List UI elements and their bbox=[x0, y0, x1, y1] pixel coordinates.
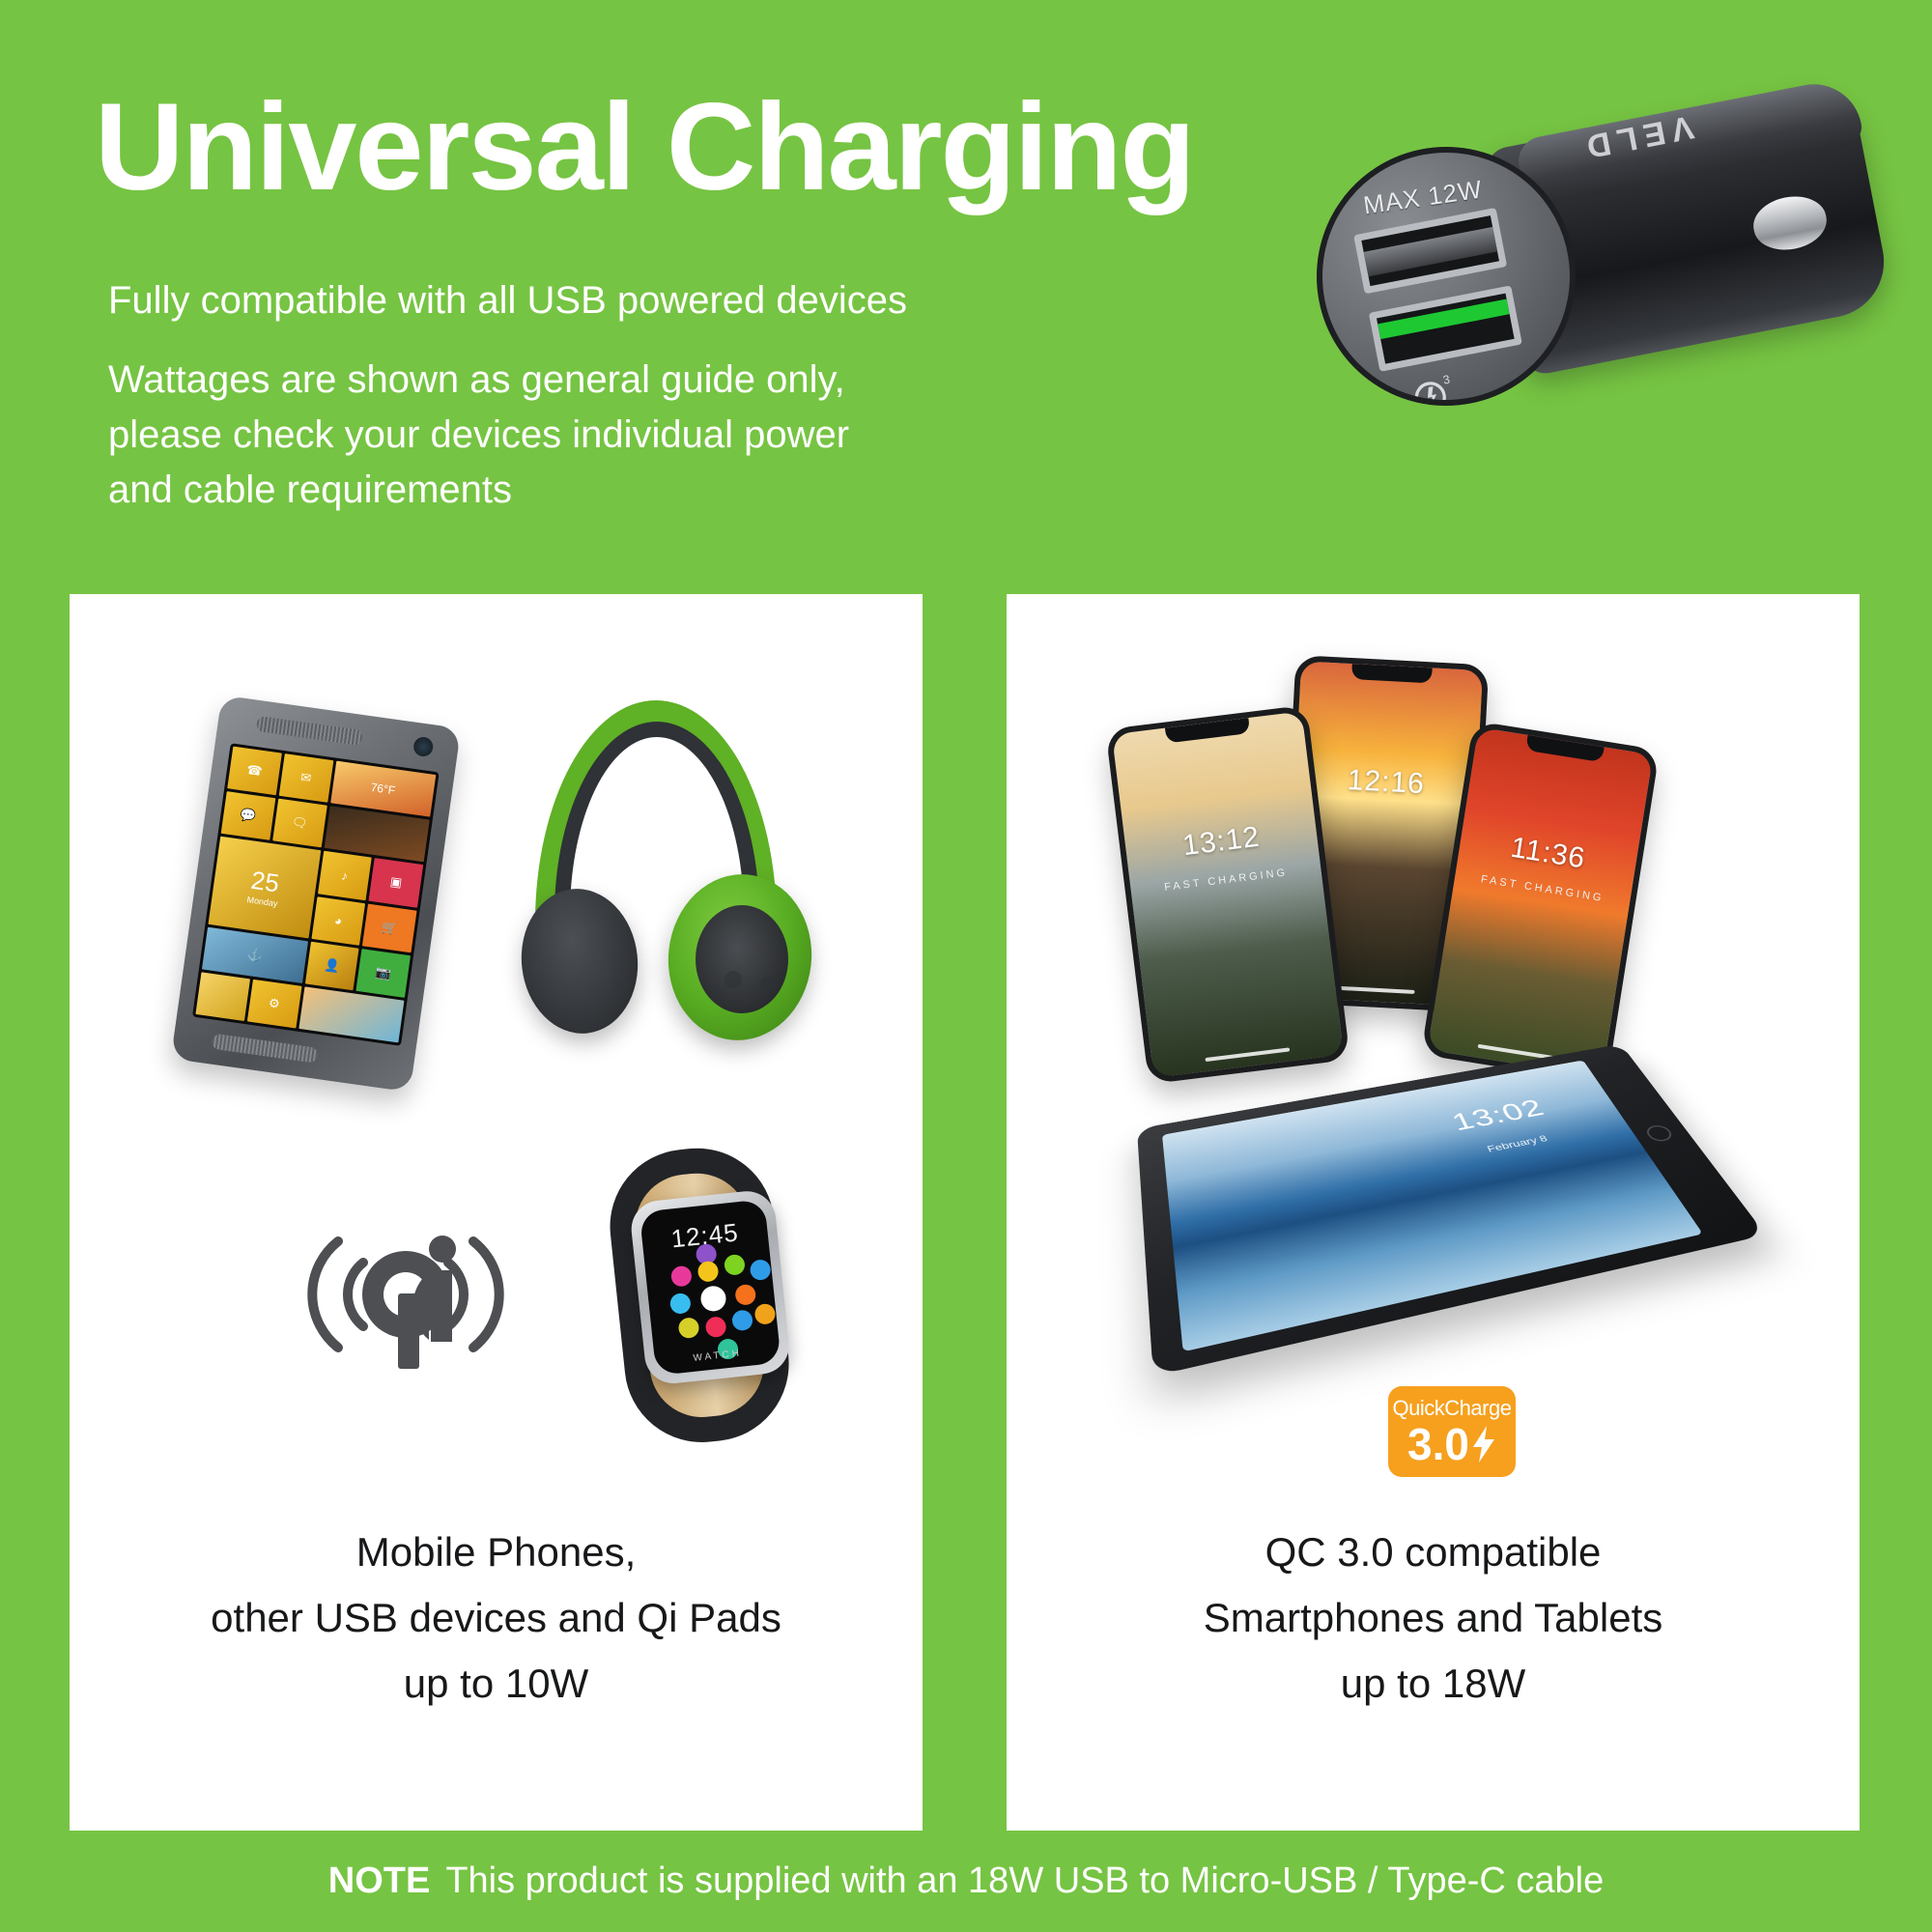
tile-settings: ⚙ bbox=[247, 980, 301, 1029]
watch-clock-icon bbox=[699, 1285, 727, 1313]
headphones-earpad bbox=[696, 905, 788, 1013]
tile-wifi: ◕ bbox=[311, 896, 365, 946]
header-subtitle-wattage-line-1: Wattages are shown as general guide only… bbox=[108, 353, 978, 408]
tile-notes bbox=[195, 972, 249, 1021]
header-subtitle-wattage: Wattages are shown as general guide only… bbox=[108, 353, 978, 517]
watch-case: 12:45 bbox=[629, 1188, 792, 1386]
tile-calendar: 25 Monday bbox=[209, 837, 321, 938]
watch-app-icon bbox=[724, 1254, 746, 1276]
watch-app-icon bbox=[669, 1293, 692, 1315]
usb-port-quickcharge-contacts bbox=[1378, 298, 1510, 339]
watch-app-icon bbox=[705, 1316, 727, 1338]
watch-app-icon bbox=[677, 1317, 699, 1339]
note-text: This product is supplied with an 18W USB… bbox=[445, 1861, 1604, 1902]
quickcharge-3-badge: QuickCharge 3.0 bbox=[1388, 1386, 1516, 1477]
svg-text:3: 3 bbox=[1442, 373, 1452, 387]
header-subtitle-wattage-line-3: and cable requirements bbox=[108, 463, 978, 518]
tile-messaging: 💬 bbox=[221, 791, 275, 840]
tablet-lockscreen-time: 13:02 bbox=[1448, 1095, 1550, 1137]
usb-port-standard bbox=[1353, 208, 1507, 294]
car-charger-product-image: VELD MAX 12W 3 bbox=[1290, 58, 1908, 493]
tile-chat: 🗨 bbox=[272, 799, 327, 848]
card-left-caption-line-3: up to 10W bbox=[70, 1651, 923, 1717]
tablet-home-button bbox=[1643, 1123, 1676, 1143]
tablet-lockscreen-date: February 8 bbox=[1485, 1133, 1548, 1154]
watch-app-icon bbox=[696, 1261, 719, 1283]
watch-app-icon bbox=[731, 1309, 753, 1331]
card-left-caption-line-2: other USB devices and Qi Pads bbox=[70, 1585, 923, 1651]
phone-notch bbox=[1165, 718, 1250, 743]
card-right-caption-line-1: QC 3.0 compatible bbox=[1007, 1520, 1860, 1585]
usb-port-standard-contacts bbox=[1364, 227, 1497, 276]
lightning-bolt-icon bbox=[1471, 1425, 1496, 1463]
smartphones-group-image: 12:16 11:36 FAST CHARGING 13:12 FAST CHA… bbox=[1113, 652, 1712, 1106]
watch-app-grid bbox=[658, 1250, 766, 1358]
card-right-caption-line-3: up to 18W bbox=[1007, 1651, 1860, 1717]
qi-wireless-logo-icon bbox=[290, 1212, 522, 1377]
phone-home-indicator bbox=[1335, 986, 1415, 994]
header-subtitle-wattage-line-2: please check your devices individual pow… bbox=[108, 408, 978, 463]
phone-home-screen: ☎ ✉ 76°F 💬 🗨 25 Monday ♪ ▣ ◕ 🛒 ⚓ 👤 📷 ⚙ bbox=[192, 743, 440, 1046]
headphones-button-2 bbox=[759, 977, 777, 994]
phone-home-indicator bbox=[1206, 1047, 1290, 1062]
smartwatch-image: 12:45 bbox=[581, 1129, 834, 1460]
tile-store: 🛒 bbox=[362, 903, 416, 952]
tile-music: ♪ bbox=[318, 851, 372, 900]
compatibility-card-quickcharge: 12:16 11:36 FAST CHARGING 13:12 FAST CHA… bbox=[1007, 594, 1860, 1831]
header-subtitle-compatibility: Fully compatible with all USB powered de… bbox=[108, 275, 907, 326]
card-right-caption-line-2: Smartphones and Tablets bbox=[1007, 1585, 1860, 1651]
compatibility-card-standard: ☎ ✉ 76°F 💬 🗨 25 Monday ♪ ▣ ◕ 🛒 ⚓ 👤 📷 ⚙ bbox=[70, 594, 923, 1831]
tile-calendar-day: 25 bbox=[249, 866, 281, 899]
note-label: NOTE bbox=[328, 1861, 431, 1902]
watch-screen: 12:45 bbox=[639, 1199, 781, 1376]
quickcharge-q3-icon: 3 bbox=[1408, 368, 1461, 420]
tile-mail: ✉ bbox=[278, 753, 332, 803]
quickcharge-badge-version: 3.0 bbox=[1407, 1422, 1469, 1466]
windows-phone-image: ☎ ✉ 76°F 💬 🗨 25 Monday ♪ ▣ ◕ 🛒 ⚓ 👤 📷 ⚙ bbox=[171, 695, 461, 1092]
card-right-visual-area: 12:16 11:36 FAST CHARGING 13:12 FAST CHA… bbox=[1007, 594, 1860, 1608]
phone-notch bbox=[1525, 735, 1605, 762]
page-title: Universal Charging bbox=[95, 83, 1194, 213]
watch-app-icon bbox=[750, 1259, 772, 1281]
headphones-image bbox=[485, 691, 833, 1077]
headphones-button-1 bbox=[724, 971, 742, 988]
tile-people: 👤 bbox=[304, 941, 358, 990]
phone-notch bbox=[1351, 664, 1432, 683]
header-section: Universal Charging Fully compatible with… bbox=[0, 0, 1932, 594]
footer-note-bar: NOTE This product is supplied with an 18… bbox=[0, 1831, 1932, 1932]
card-left-caption-line-1: Mobile Phones, bbox=[70, 1520, 923, 1585]
watch-app-icon bbox=[734, 1284, 756, 1306]
watch-app-icon bbox=[753, 1303, 776, 1325]
smartphone-left: 13:12 FAST CHARGING bbox=[1105, 705, 1350, 1085]
quickcharge-badge-title: QuickCharge bbox=[1393, 1398, 1512, 1419]
phone-fast-charging-label: FAST CHARGING bbox=[1130, 863, 1321, 897]
card-left-visual-area: ☎ ✉ 76°F 💬 🗨 25 Monday ♪ ▣ ◕ 🛒 ⚓ 👤 📷 ⚙ bbox=[70, 594, 923, 1608]
tile-phone: ☎ bbox=[227, 747, 281, 796]
tile-photos: ▣ bbox=[369, 858, 423, 907]
phone-lockscreen-time: 13:12 bbox=[1124, 814, 1319, 870]
tile-camera: 📷 bbox=[356, 949, 411, 998]
phone-lockscreen-time: 12:16 bbox=[1294, 762, 1478, 805]
watch-app-icon bbox=[670, 1265, 693, 1288]
card-left-caption: Mobile Phones, other USB devices and Qi … bbox=[70, 1520, 923, 1717]
quickcharge-badge-version-row: 3.0 bbox=[1407, 1422, 1496, 1466]
card-right-caption: QC 3.0 compatible Smartphones and Tablet… bbox=[1007, 1520, 1860, 1717]
usb-port-quickcharge bbox=[1369, 285, 1522, 371]
